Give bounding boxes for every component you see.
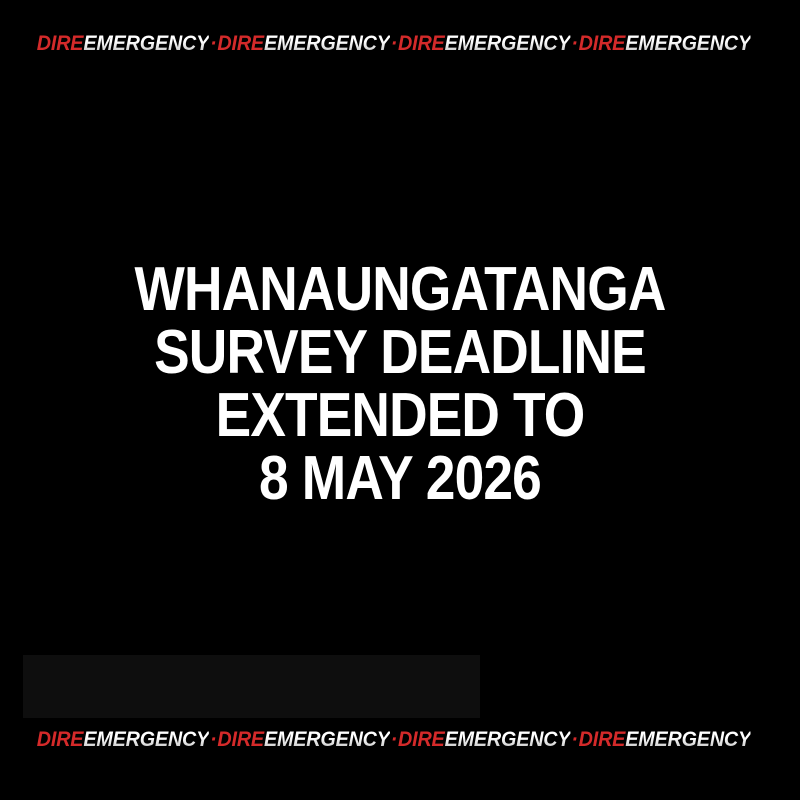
ticker-brand-primary: DIRE — [217, 33, 264, 55]
ticker-separator-icon: · — [570, 33, 578, 55]
ticker-track-top: DIREEMERGENCY·DIREEMERGENCY·DIREEMERGENC… — [0, 33, 751, 55]
ticker-brand-primary: DIRE — [579, 729, 626, 751]
poster-canvas: DIREEMERGENCY·DIREEMERGENCY·DIREEMERGENC… — [0, 0, 800, 800]
ticker-brand-secondary: EMERGENCY — [83, 33, 209, 55]
headline-line-1: WHANAUNGATANGA — [56, 258, 744, 321]
ticker-separator-icon: · — [570, 729, 578, 751]
ticker-brand-primary: DIRE — [37, 729, 84, 751]
ticker-brand-secondary: EMERGENCY — [83, 729, 209, 751]
headline-line-4-date: 8 MAY 2026 — [56, 447, 744, 510]
headline-line-2: SURVEY DEADLINE — [56, 321, 744, 384]
ticker-track-bottom: DIREEMERGENCY·DIREEMERGENCY·DIREEMERGENC… — [0, 729, 751, 751]
ticker-brand-primary: DIRE — [398, 729, 445, 751]
ticker-brand-primary: DIRE — [217, 729, 264, 751]
ticker-brand-primary: DIRE — [579, 33, 626, 55]
ticker-banner-bottom: DIREEMERGENCY·DIREEMERGENCY·DIREEMERGENC… — [0, 718, 800, 762]
ticker-brand-secondary: EMERGENCY — [445, 33, 571, 55]
ticker-brand-secondary: EMERGENCY — [625, 729, 751, 751]
ticker-banner-top: DIREEMERGENCY·DIREEMERGENCY·DIREEMERGENC… — [0, 22, 800, 66]
ticker-brand-secondary: EMERGENCY — [264, 33, 390, 55]
ticker-brand-primary: DIRE — [37, 33, 84, 55]
headline-block: WHANAUNGATANGA SURVEY DEADLINE EXTENDED … — [0, 258, 800, 510]
ticker-separator-icon: · — [390, 33, 398, 55]
ticker-brand-secondary: EMERGENCY — [625, 33, 751, 55]
ticker-separator-icon: · — [209, 33, 217, 55]
ticker-separator-icon: · — [209, 729, 217, 751]
ticker-brand-primary: DIRE — [398, 33, 445, 55]
ticker-separator-icon: · — [390, 729, 398, 751]
ticker-brand-secondary: EMERGENCY — [445, 729, 571, 751]
lower-dark-panel — [23, 655, 480, 720]
headline-line-3: EXTENDED TO — [56, 384, 744, 447]
ticker-brand-secondary: EMERGENCY — [264, 729, 390, 751]
